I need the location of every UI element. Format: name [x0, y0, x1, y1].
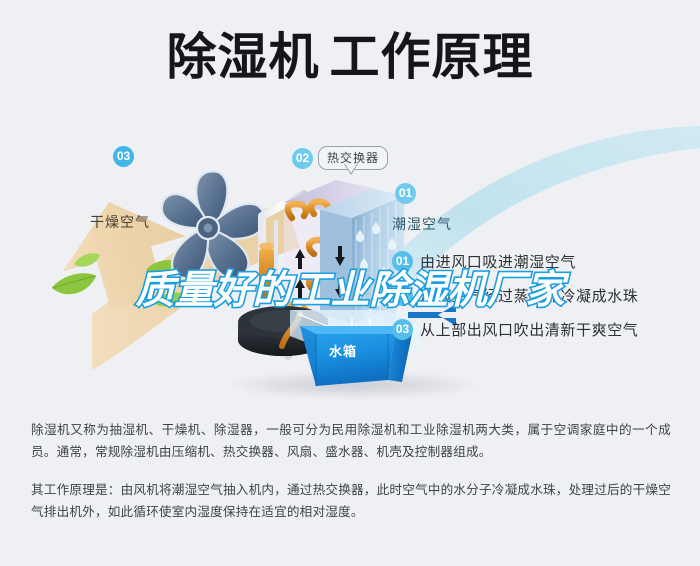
- dry-air-badge: 03: [113, 146, 134, 167]
- humid-air-badge: 01: [395, 183, 416, 204]
- water-tank-label: 水箱: [329, 341, 357, 360]
- dry-air-label: 干燥空气: [90, 212, 150, 232]
- step-text: 潮湿空气经过蒸发器冷凝成水珠: [420, 285, 638, 306]
- humid-air-badge-number: 01: [395, 183, 416, 204]
- step-text: 由进风口吸进潮湿空气: [420, 251, 576, 272]
- body-copy: 除湿机又称为抽湿机、干燥机、除湿器，一般可分为民用除湿机和工业除湿机两大类，属于…: [31, 419, 671, 523]
- step-badge: 01: [392, 251, 413, 272]
- process-step-list: 01 由进风口吸进潮湿空气 02 潮湿空气经过蒸发器冷凝成水珠 03 从上部出风…: [392, 244, 638, 346]
- step-text: 从上部出风口吹出清新干爽空气: [420, 319, 638, 340]
- accumulator-cylinder: [259, 243, 274, 302]
- infographic-page: 除湿机工作原理: [0, 0, 700, 566]
- body-paragraph-2: 其工作原理是：由风机将潮湿空气抽入机内，通过热交换器，此时空气中的水分子冷凝成水…: [31, 479, 671, 523]
- title-part-2: 工作原理: [330, 29, 534, 85]
- humid-air-label: 潮湿空气: [392, 214, 452, 234]
- dry-air-badge-number: 03: [113, 146, 134, 167]
- heat-exchanger-callout: 热交换器: [318, 146, 388, 170]
- list-item: 01 由进风口吸进潮湿空气: [392, 244, 638, 278]
- page-title: 除湿机工作原理: [0, 28, 700, 86]
- list-item: 03 从上部出风口吹出清新干爽空气: [392, 312, 638, 346]
- step-badge: 02: [392, 285, 413, 306]
- title-part-1: 除湿机: [167, 29, 320, 85]
- list-item: 02 潮湿空气经过蒸发器冷凝成水珠: [392, 278, 638, 312]
- body-paragraph-1: 除湿机又称为抽湿机、干燥机、除湿器，一般可分为民用除湿机和工业除湿机两大类，属于…: [31, 419, 671, 463]
- step-badge: 03: [392, 319, 413, 340]
- heat-exchanger-badge: 02: [292, 148, 313, 169]
- heat-exchanger-badge-number: 02: [292, 148, 313, 169]
